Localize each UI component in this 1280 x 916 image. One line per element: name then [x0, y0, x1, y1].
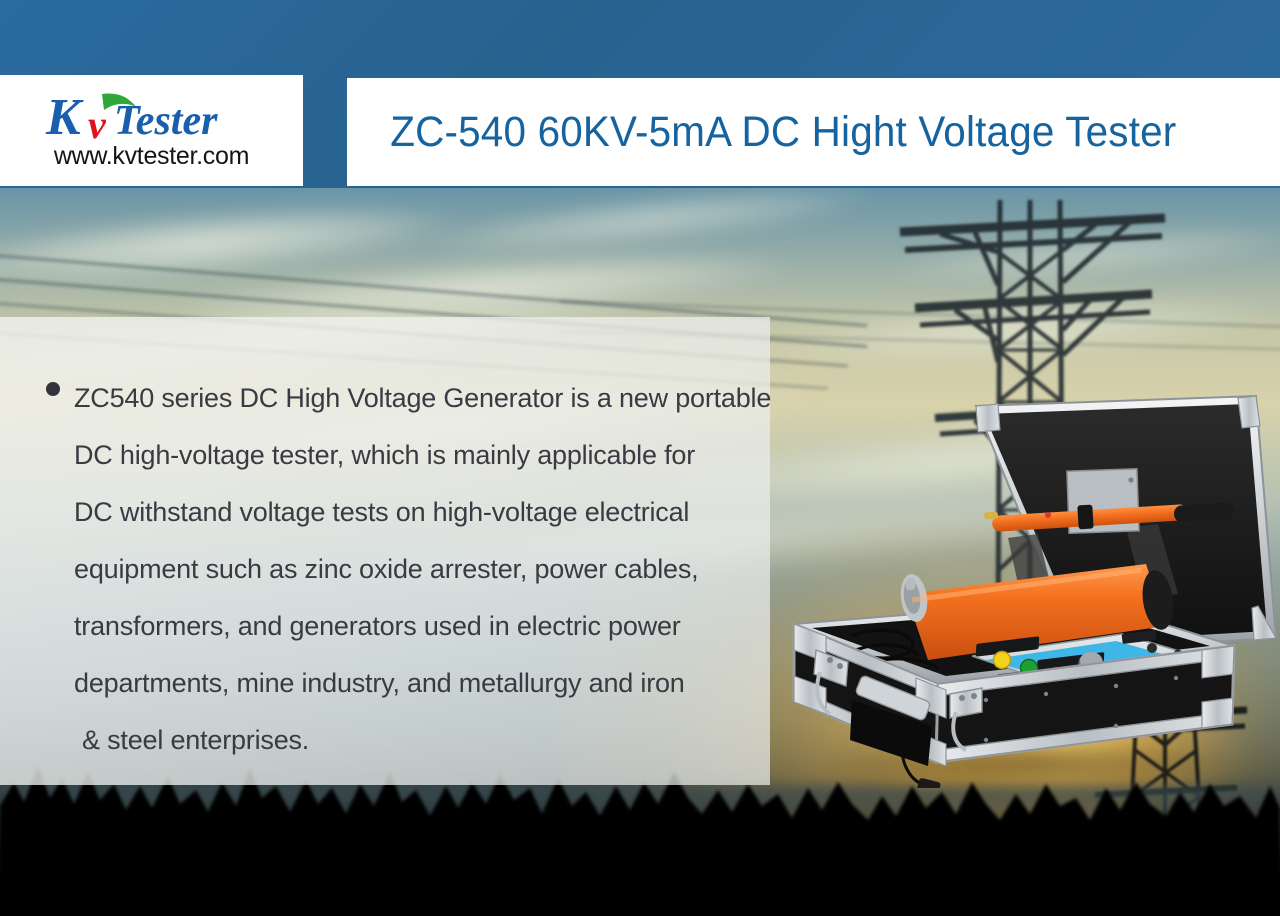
description-line: equipment such as zinc oxide arrester, p…: [74, 541, 752, 598]
case-base: [794, 564, 1234, 788]
description-line: & steel enterprises.: [74, 712, 752, 769]
description-panel: ZC540 series DC High Voltage Generator i…: [0, 317, 770, 785]
description-line: departments, mine industry, and metallur…: [74, 655, 752, 712]
brand-url: www.kvtester.com: [54, 142, 249, 171]
description-line: ZC540 series DC High Voltage Generator i…: [74, 370, 752, 427]
dc-high-voltage-tester-case-icon: [786, 388, 1280, 788]
product-image: [786, 388, 1280, 788]
svg-text:v: v: [88, 102, 107, 144]
yellow-indicator: [994, 652, 1011, 669]
page-title: ZC-540 60KV-5mA DC Hight Voltage Tester: [347, 108, 1176, 157]
logo-wordmark: K v Tester: [44, 90, 260, 144]
svg-text:Tester: Tester: [114, 98, 218, 144]
description-line: transformers, and generators used in ele…: [74, 598, 752, 655]
description-text: ZC540 series DC High Voltage Generator i…: [46, 370, 752, 769]
title-plate: ZC-540 60KV-5mA DC Hight Voltage Tester: [347, 78, 1280, 186]
description-line: DC withstand voltage tests on high-volta…: [74, 484, 752, 541]
kvtester-logo-icon: K v Tester: [44, 90, 260, 144]
description-line: DC high-voltage tester, which is mainly …: [74, 427, 752, 484]
product-banner: K v Tester www.kvtester.com ZC-540 60KV-…: [0, 0, 1280, 916]
brand-logo[interactable]: K v Tester www.kvtester.com: [0, 75, 303, 186]
svg-text:K: K: [45, 90, 84, 144]
description-bullet-item: ZC540 series DC High Voltage Generator i…: [46, 370, 752, 769]
bullet-point-icon: [46, 382, 60, 396]
